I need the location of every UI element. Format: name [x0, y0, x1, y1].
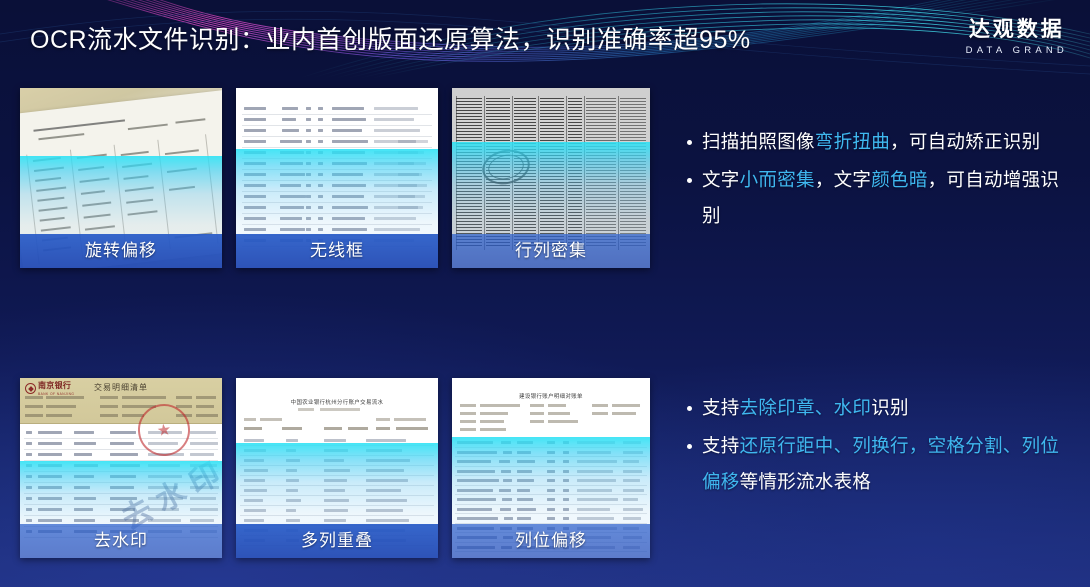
plain-text: 文字 [702, 169, 740, 190]
bullet-item: 文字小而密集，文字颜色暗，可自动增强识别 [686, 162, 1068, 234]
bullet-item: 扫描拍照图像弯折扭曲，可自动矫正识别 [686, 124, 1068, 160]
plain-text: 等情形流水表格 [740, 471, 872, 492]
statement-title: 交易明细清单 [20, 382, 222, 393]
card-rotated-offset[interactable]: 旋转偏移 [20, 88, 222, 268]
card-row-bottom: 南京银行 BANK OF NANJING 交易明细清单 [20, 378, 650, 558]
highlighted-text: 弯折扭曲 [815, 131, 890, 152]
bullet-group-top: 扫描拍照图像弯折扭曲，可自动矫正识别 文字小而密集，文字颜色暗，可自动增强识别 [686, 124, 1068, 236]
brand-name-en: DATA GRAND [966, 45, 1068, 56]
highlighted-text: 小而密集 [740, 169, 815, 190]
page-title: OCR流水文件识别：业内首创版面还原算法，识别准确率超95% [30, 20, 751, 56]
plain-text: 扫描拍照图像 [702, 131, 815, 152]
card-dense-rows-columns[interactable]: 行列密集 [452, 88, 650, 268]
card-row-top: 旋转偏移 [20, 88, 650, 268]
card-overlapping-columns[interactable]: 中国农业银行杭州分行账户交易流水 [236, 378, 438, 558]
plain-text: ，可自动矫正识别 [890, 131, 1040, 152]
statement-title: 建设银行账户明细对账单 [452, 392, 650, 400]
card-caption: 列位偏移 [452, 524, 650, 558]
plain-text: ，文字 [815, 169, 871, 190]
highlighted-text: 颜色暗 [871, 169, 927, 190]
card-caption: 去水印 [20, 524, 222, 558]
slide-root: OCR流水文件识别：业内首创版面还原算法，识别准确率超95% 达观数据 DATA… [0, 0, 1090, 587]
slide-header: OCR流水文件识别：业内首创版面还原算法，识别准确率超95% 达观数据 DATA… [0, 0, 1090, 70]
brand-logo: 达观数据 DATA GRAND [966, 18, 1068, 56]
brand-name-cn: 达观数据 [966, 18, 1068, 41]
card-borderless-table[interactable]: 无线框 [236, 88, 438, 268]
card-column-shift[interactable]: 建设银行账户明细对账单 [452, 378, 650, 558]
plain-text: 支持 [702, 435, 740, 456]
card-caption: 无线框 [236, 234, 438, 268]
card-caption: 行列密集 [452, 234, 650, 268]
bullet-item: 支持去除印章、水印识别 [686, 390, 1068, 426]
card-caption: 旋转偏移 [20, 234, 222, 268]
card-caption: 多列重叠 [236, 524, 438, 558]
plain-text: 识别 [871, 397, 909, 418]
bullet-group-bottom: 支持去除印章、水印识别 支持还原行距中、列换行，空格分割、列位偏移等情形流水表格 [686, 390, 1068, 502]
statement-title: 中国农业银行杭州分行账户交易流水 [236, 398, 438, 406]
plain-text: 支持 [702, 397, 740, 418]
highlighted-text: 去除印章、水印 [740, 397, 872, 418]
card-remove-watermark[interactable]: 南京银行 BANK OF NANJING 交易明细清单 [20, 378, 222, 558]
bullet-item: 支持还原行距中、列换行，空格分割、列位偏移等情形流水表格 [686, 428, 1068, 500]
